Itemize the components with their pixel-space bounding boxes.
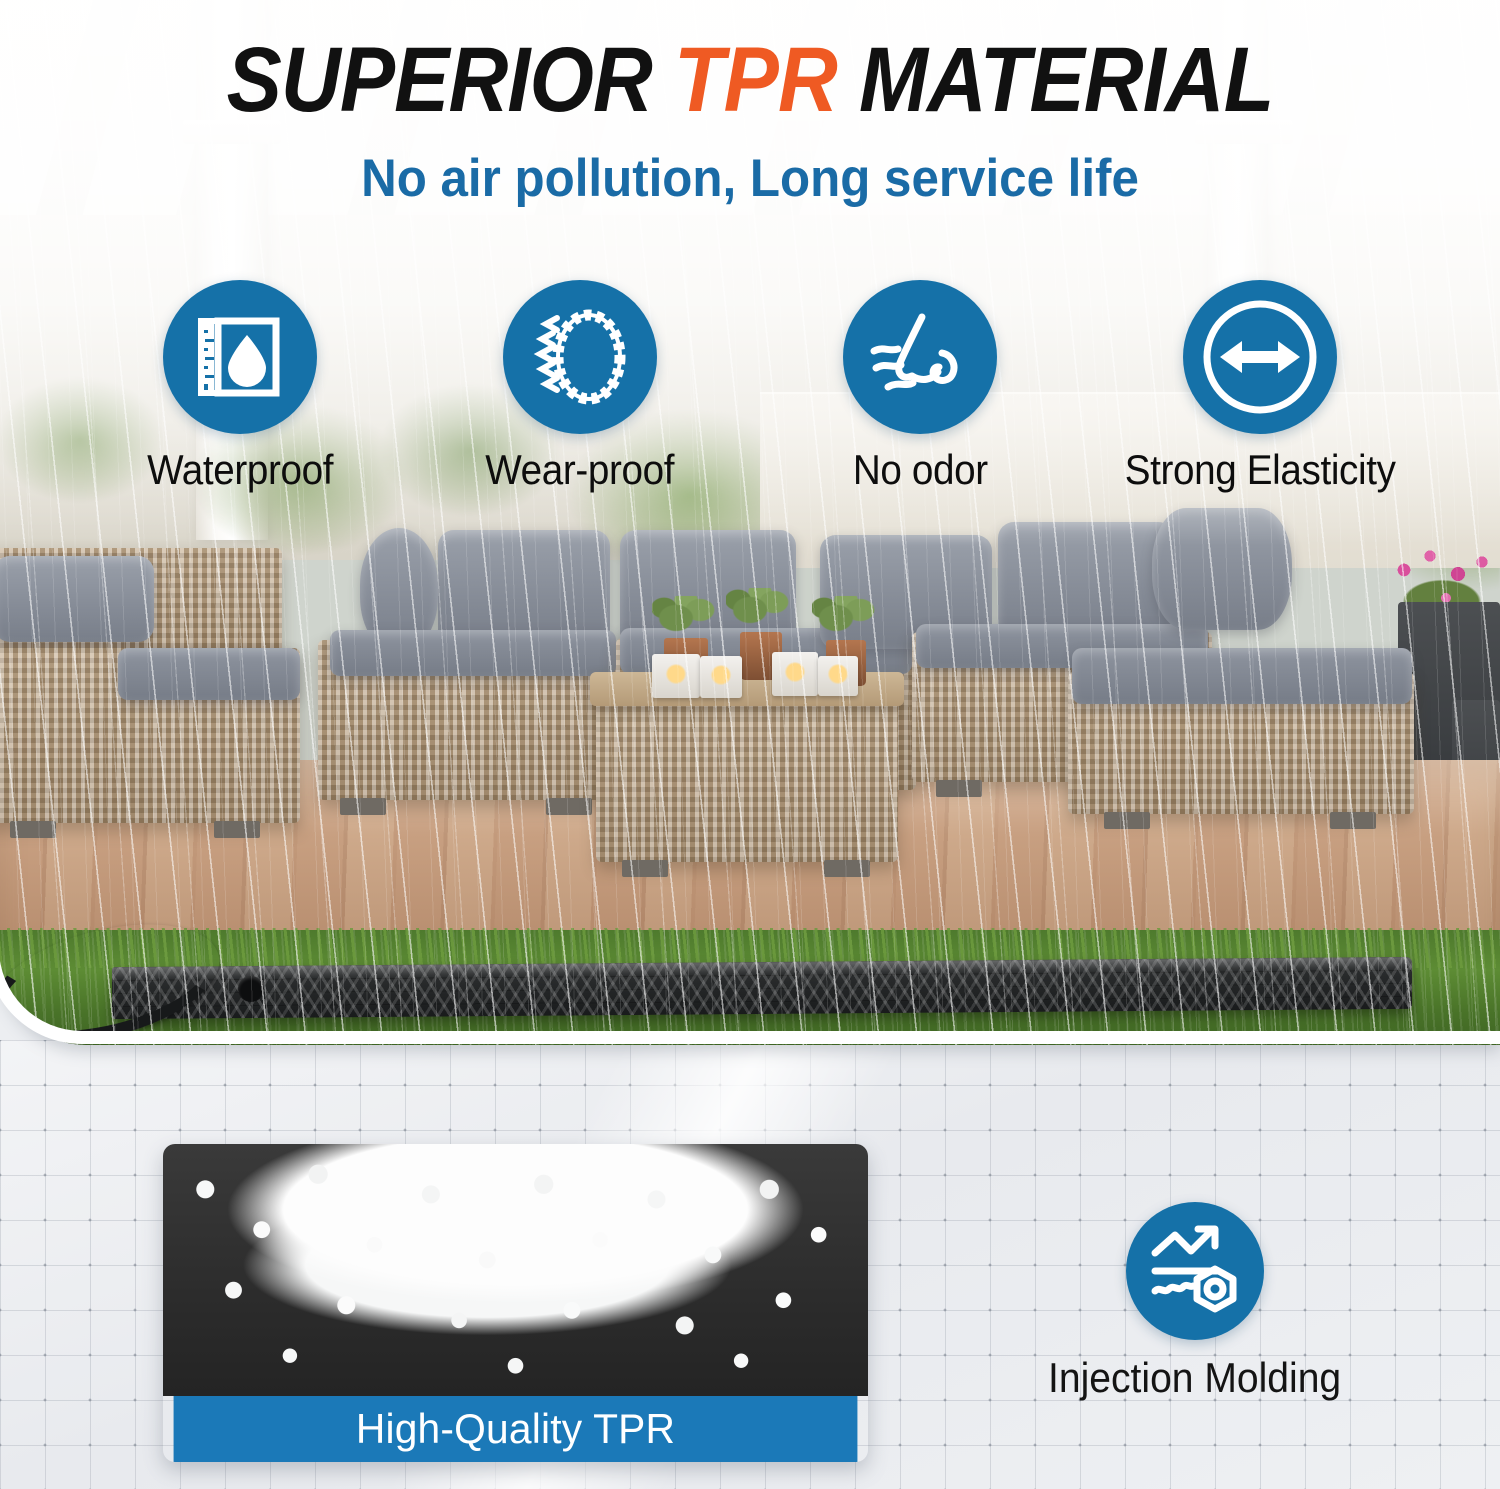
feature-wear-proof: Wear-proof <box>410 280 750 494</box>
potted-plant-3 <box>812 596 882 646</box>
armchair-seat-cushion <box>118 648 300 700</box>
ramp-cable-entry <box>238 976 264 1002</box>
page-subtitle: No air pollution, Long service life <box>53 148 1448 209</box>
tpr-pellets-card: High-Quality TPR <box>163 1144 868 1462</box>
coffee-table-base <box>596 690 898 862</box>
ottoman-cushion <box>1072 648 1412 704</box>
injection-molding-label: Injection Molding <box>1048 1354 1341 1402</box>
feature-label: Strong Elasticity <box>1125 446 1396 494</box>
corner-accent-pillow <box>1152 508 1292 630</box>
armchair-pillow <box>0 556 154 642</box>
sofa-back-pillow-1 <box>438 530 610 646</box>
tire-tread-icon <box>503 280 657 434</box>
tpr-caption-bar: High-Quality TPR <box>174 1396 858 1462</box>
feature-injection-molding: Injection Molding <box>985 1202 1405 1402</box>
title-part-1: SUPERIOR <box>227 29 674 131</box>
double-arrow-icon <box>1183 280 1337 434</box>
feature-label: No odor <box>853 446 988 494</box>
sofa-seat-cushion-left <box>330 630 616 676</box>
feature-no-odor: No odor <box>750 280 1090 494</box>
feature-label: Wear-proof <box>486 446 675 494</box>
cable-protector-ramp <box>112 957 1412 1019</box>
feature-label: Waterproof <box>147 446 333 494</box>
feature-strong-elasticity: Strong Elasticity <box>1090 280 1430 494</box>
waterproof-fabric-icon <box>163 280 317 434</box>
tpr-pellets-photo <box>163 1144 868 1396</box>
product-infographic: SUPERIOR TPR MATERIAL No air pollution, … <box>0 0 1500 1489</box>
feature-row: Waterproof Wear-proof <box>0 280 1500 502</box>
tpr-caption-text: High-Quality TPR <box>356 1405 675 1453</box>
page-title: SUPERIOR TPR MATERIAL <box>75 34 1425 128</box>
injection-molding-icon <box>1126 1202 1264 1340</box>
feature-waterproof: Waterproof <box>70 280 410 494</box>
candle-holder-4 <box>818 656 858 696</box>
title-accent-tpr: TPR <box>674 29 837 131</box>
title-part-2: MATERIAL <box>837 29 1274 131</box>
candle-holder-2 <box>700 656 742 698</box>
candle-holder-3 <box>772 652 818 696</box>
nose-scent-icon <box>843 280 997 434</box>
candle-holder-1 <box>652 654 700 698</box>
